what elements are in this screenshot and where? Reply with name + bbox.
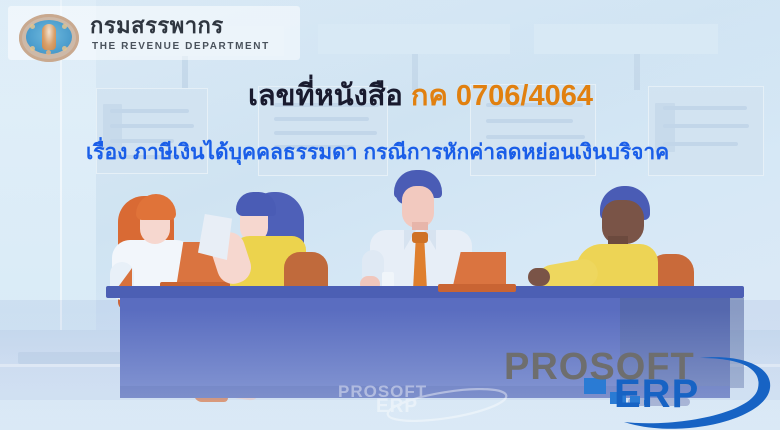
document-subject-text: เรื่อง ภาษีเงินได้บุคคลธรรมดา กรณีการหัก… [86,139,746,166]
document-number-label: เลขที่หนังสือ [248,80,403,112]
org-name-english: THE REVENUE DEPARTMENT [92,42,270,52]
logo-product-text: ERP [614,374,699,414]
thai-garuda-emblem-icon [16,12,82,64]
center-watermark: PROSOFT ERP [336,382,516,426]
prosoft-erp-logo: PROSOFT ERP [504,348,780,430]
slide-canvas: กรมสรรพากร THE REVENUE DEPARTMENT เลขที่… [0,0,780,430]
document-number-headline: เลขที่หนังสือ กค 0706/4064 [248,80,593,112]
watermark-product: ERP [376,396,418,418]
document-number-value: กค 0706/4064 [411,80,593,112]
org-name-thai: กรมสรรพากร [90,15,224,37]
revenue-department-header: กรมสรรพากร THE REVENUE DEPARTMENT [8,6,300,60]
